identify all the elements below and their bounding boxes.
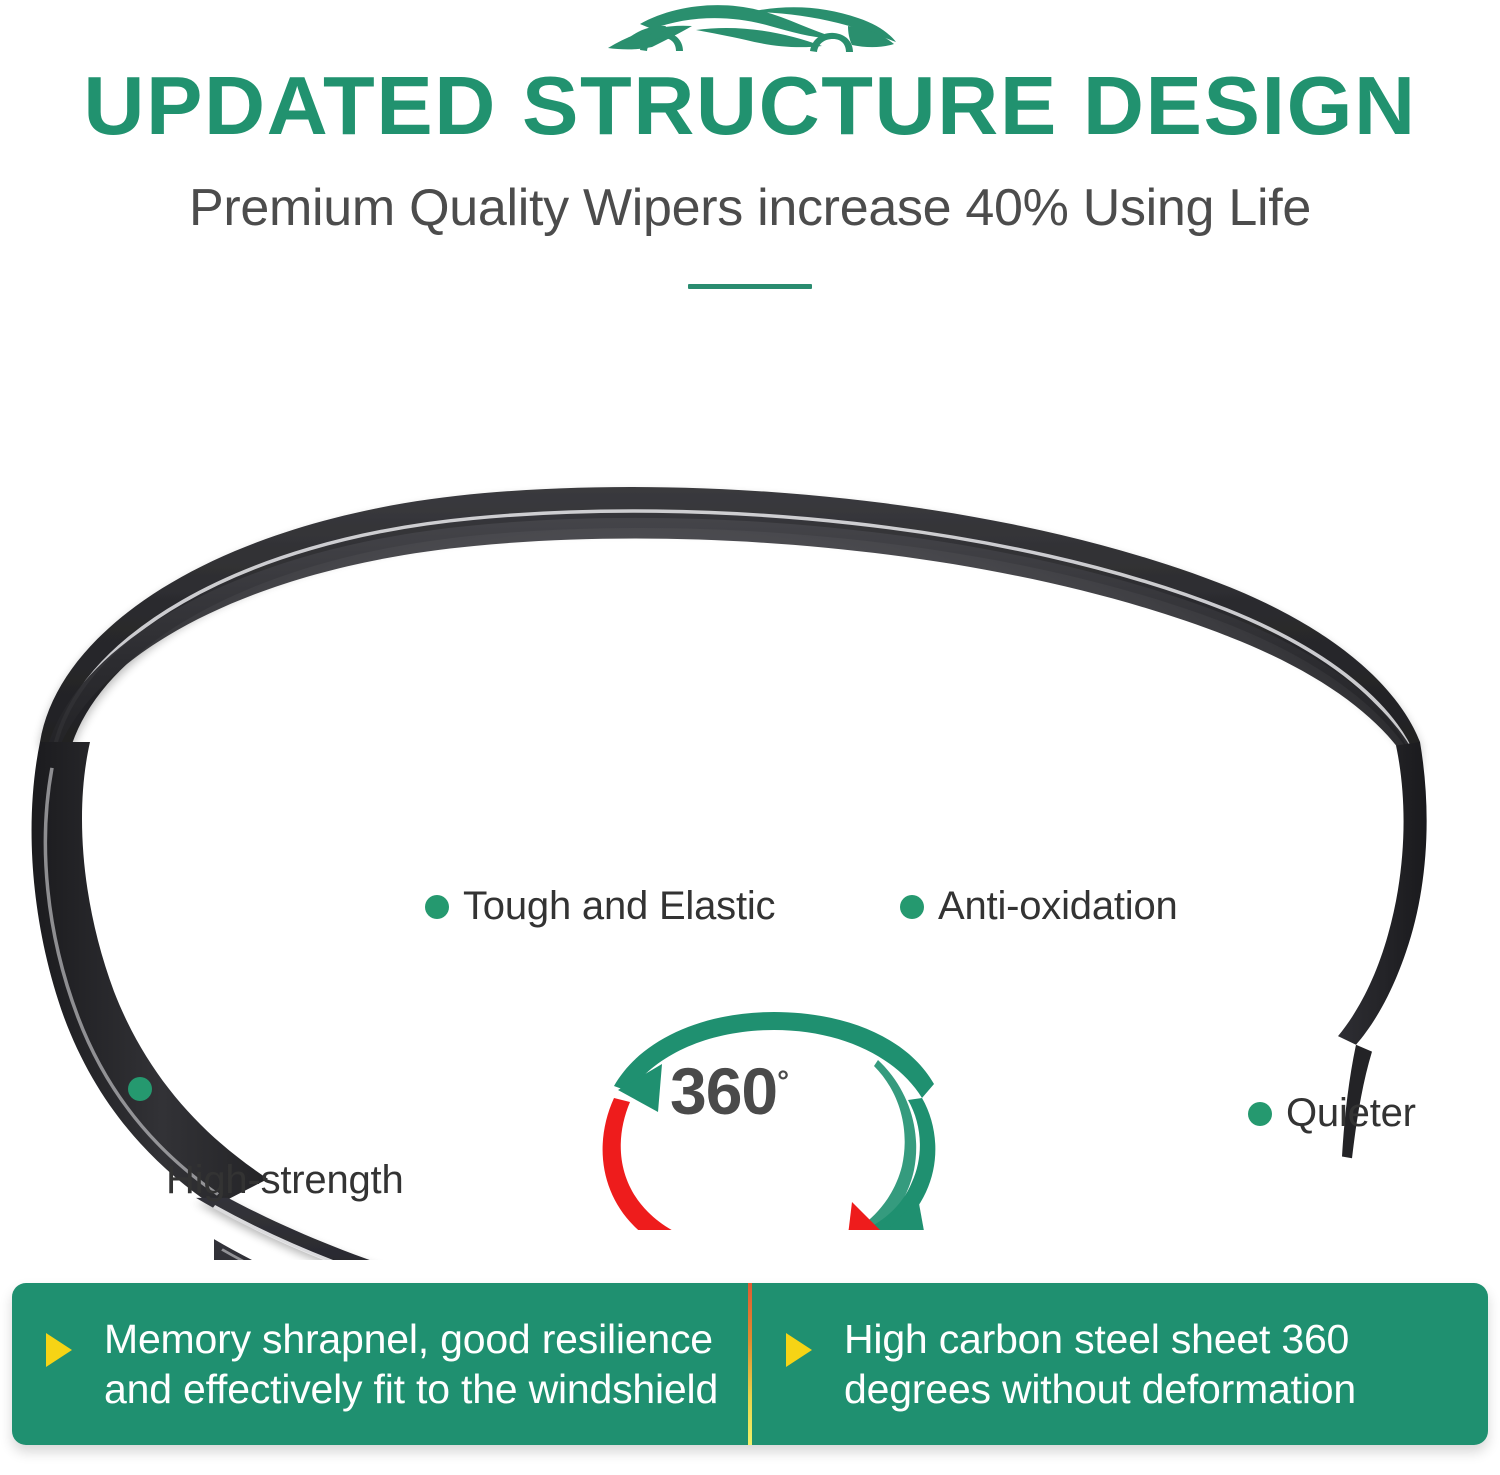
bullet-dot-icon (128, 1077, 152, 1101)
page-title: UPDATED STRUCTURE DESIGN (0, 62, 1500, 150)
feature-label-text: Tough and Elastic (463, 883, 775, 929)
bottom-banner-row: Memory shrapnel, good resilience and eff… (12, 1283, 1488, 1445)
feature-label-tough-and-elastic: Tough and Elastic (425, 883, 775, 929)
feature-label-text: Anti-oxidation (938, 883, 1178, 929)
bullet-dot-icon (900, 895, 924, 919)
triangle-right-icon (46, 1333, 98, 1367)
feature-label-anti-oxidation: Anti-oxidation (900, 883, 1178, 929)
banner-high-carbon-steel: High carbon steel sheet 360 degrees with… (752, 1283, 1488, 1445)
badge-360-degree: 360° (578, 1000, 958, 1230)
badge-degree-symbol: ° (777, 1065, 788, 1098)
banner-text: High carbon steel sheet 360 degrees with… (844, 1314, 1462, 1414)
bullet-dot-icon (1248, 1102, 1272, 1126)
product-image-area: Tough and Elastic Anti-oxidation High-st… (0, 300, 1500, 1260)
badge-360-label: 360° (670, 1058, 788, 1124)
banner-text: Memory shrapnel, good resilience and eff… (104, 1314, 722, 1414)
badge-360-number: 360 (670, 1054, 777, 1128)
page-subtitle: Premium Quality Wipers increase 40% Usin… (0, 178, 1500, 238)
car-silhouette-icon (600, 2, 900, 60)
feature-label-line1: High-strength (166, 1157, 410, 1203)
feature-label-quieter: Quieter (1248, 1090, 1416, 1136)
triangle-right-icon (786, 1333, 838, 1367)
feature-label-text: Quieter (1286, 1090, 1416, 1136)
title-divider (688, 284, 812, 289)
banner-memory-shrapnel: Memory shrapnel, good resilience and eff… (12, 1283, 748, 1445)
bullet-dot-icon (425, 895, 449, 919)
header: UPDATED STRUCTURE DESIGN Premium Quality… (0, 0, 1500, 300)
